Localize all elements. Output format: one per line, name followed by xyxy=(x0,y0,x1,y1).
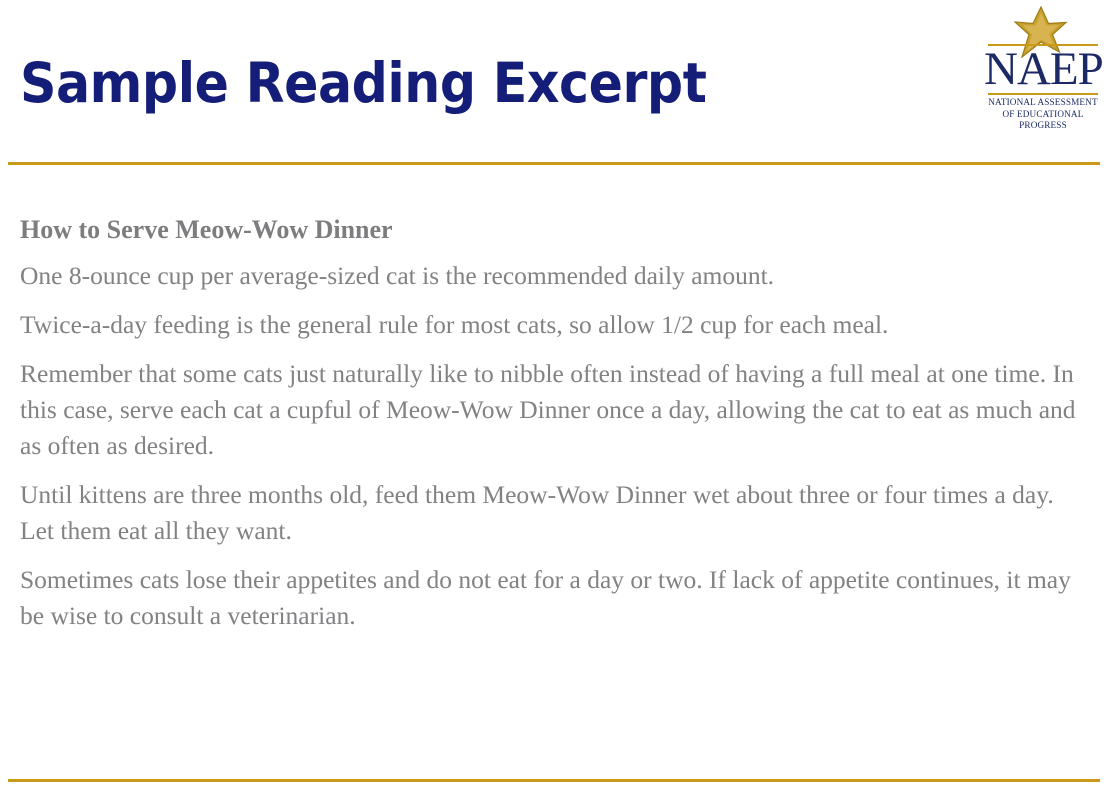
header-divider xyxy=(8,162,1100,165)
excerpt-heading: How to Serve Meow-Wow Dinner xyxy=(20,213,1092,246)
excerpt-paragraph: Remember that some cats just naturally l… xyxy=(20,356,1092,464)
slide-canvas: Sample Reading Excerpt NAEP NATIONAL ASS… xyxy=(0,0,1116,797)
logo-divider-bottom xyxy=(988,93,1098,95)
logo-subtitle-line-2: OF EDUCATIONAL xyxy=(984,109,1102,121)
excerpt-paragraph: Sometimes cats lose their appetites and … xyxy=(20,562,1092,634)
page-title: Sample Reading Excerpt xyxy=(20,52,706,114)
excerpt-paragraph: Until kittens are three months old, feed… xyxy=(20,477,1092,549)
logo-subtitle-line-1: NATIONAL ASSESSMENT xyxy=(984,97,1102,109)
excerpt-paragraph: Twice-a-day feeding is the general rule … xyxy=(20,307,1092,343)
naep-logo: NAEP NATIONAL ASSESSMENT OF EDUCATIONAL … xyxy=(984,6,1102,130)
logo-subtitle: NATIONAL ASSESSMENT OF EDUCATIONAL PROGR… xyxy=(984,97,1102,132)
excerpt-paragraph: One 8-ounce cup per average-sized cat is… xyxy=(20,258,1092,294)
footer-divider xyxy=(8,779,1100,782)
logo-wordmark: NAEP xyxy=(984,44,1102,94)
excerpt-body: How to Serve Meow-Wow Dinner One 8-ounce… xyxy=(20,213,1092,634)
slide-header: Sample Reading Excerpt NAEP NATIONAL ASS… xyxy=(0,0,1116,158)
logo-subtitle-line-3: PROGRESS xyxy=(984,120,1102,132)
